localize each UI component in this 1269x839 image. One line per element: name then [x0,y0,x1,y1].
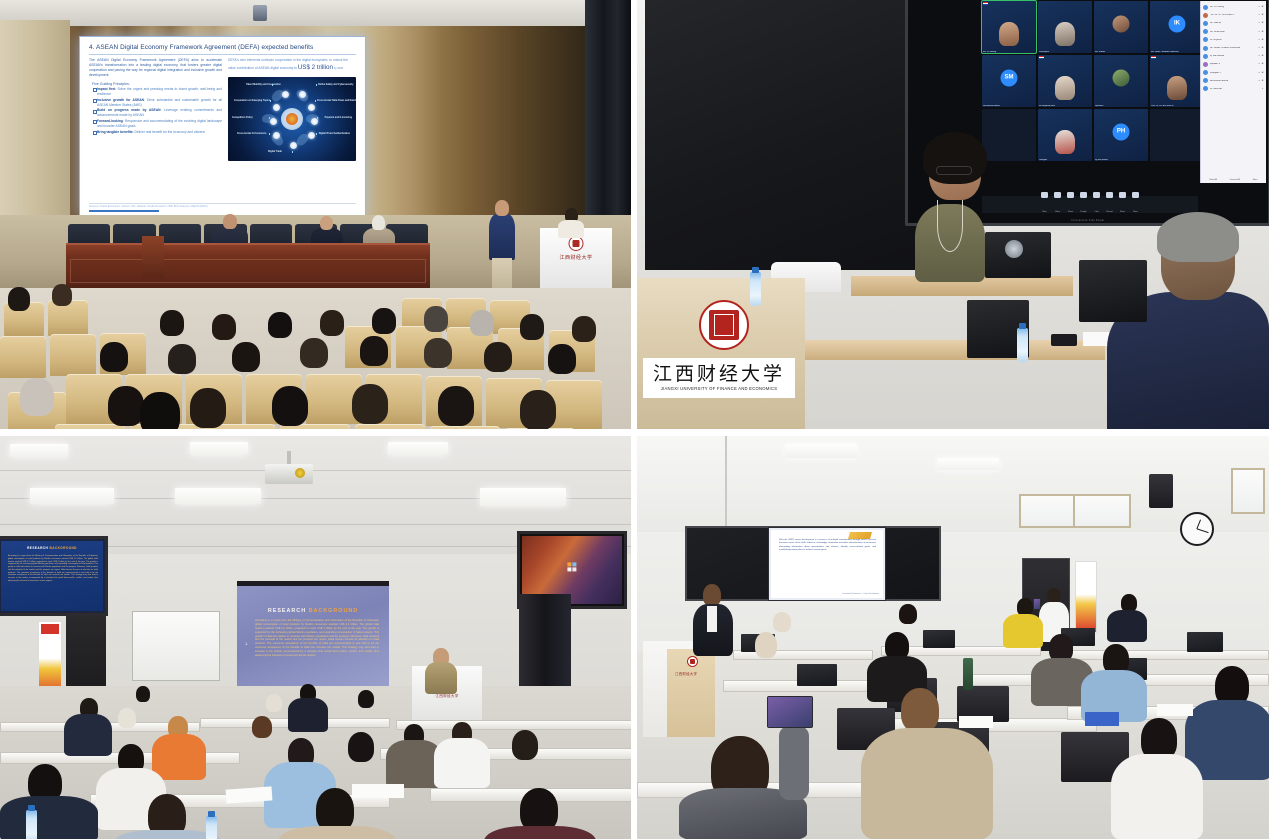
laptop-sticker-icon [1005,240,1023,258]
display-brand-label: Interactive Flat Panel [1071,219,1104,222]
desk-monitor [923,630,955,648]
list-item[interactable]: Secretariat Manila ⏶ ▣ [1203,77,1264,85]
slide-title: RESEARCH BACKGROUND [1,546,103,550]
slide-number: 1. [245,641,248,646]
audience-seating [0,286,631,429]
speaker-body [489,214,515,260]
avatar [1203,37,1208,42]
audience-head [352,384,388,424]
mc-body [558,220,584,238]
attendee-body [861,728,993,839]
presenter-necklace [937,200,963,252]
desk-monitor [797,664,837,686]
audience-head [372,308,396,334]
slide-body: According to a report from the Ministry … [255,619,379,658]
presenter-shirt [707,606,717,632]
slide-accent-bar [89,210,159,212]
audience-head [232,342,260,372]
slide-career-development: (Dessler, 2007) career development is a … [771,530,883,598]
lectern: 江西财经大学 JIANGXI UNIVERSITY OF FINANCE AND… [637,278,805,429]
ceiling-light [10,444,68,457]
list-item[interactable]: Ms. Linda Wati ⏶ ▣ [1203,28,1264,36]
water-bottle [206,816,217,839]
slide-source-line: Sources: Oxford Economics, Gartner, IDC,… [89,203,356,209]
attendee-head [358,690,374,708]
avatar [1203,86,1208,91]
windows-logo-icon [567,563,576,572]
upper-window [1019,494,1131,528]
audience-head [572,316,596,342]
whiteboard [132,611,220,681]
video-tile[interactable]: PH Sy Ma Manuel [1094,109,1148,161]
audience-head [100,342,128,372]
video-tile[interactable]: SM Secretariat Manila [982,55,1036,107]
paper-document [1157,704,1193,716]
unmute-all-button[interactable]: Unmute All [1230,179,1240,181]
pulldown-projection-screen: 1. RESEARCH BACKGROUND According to a re… [237,581,389,686]
attendee-hair [1157,212,1239,262]
diagram-label: Cooperation on Emerging Topics [234,100,268,103]
diagram-label: Online Safety and Cybersecurity [318,84,350,87]
list-item: Forward-looking: Responsive and accommod… [93,119,222,129]
audience-head [168,344,196,374]
attendee-body [64,714,112,756]
audience-head [320,310,344,336]
side-monitor-left: RESEARCH BACKGROUND According to a repor… [0,536,108,616]
slide-principles-heading: Five Guiding Principles: [92,82,222,86]
participant-initials-avatar: PH [1113,123,1130,140]
corner-window [1231,468,1265,514]
participants-button[interactable]: People [1080,192,1088,217]
ceiling-light [480,488,566,506]
attendee-body [1107,610,1147,642]
audience-head [484,342,512,372]
country-flag-icon [1039,56,1044,59]
panelist-head [320,216,333,230]
audience-head [300,338,328,368]
participant-initials-avatar: IK [1169,15,1186,32]
list-item[interactable]: Ms. Vu Hoang ⏶ ▣ [1203,3,1264,11]
audience-head [424,306,448,332]
slide-footer: International Conference — Career Develo… [842,593,879,595]
mute-all-button[interactable]: Mute All [1209,179,1216,181]
list-item[interactable]: Mr. Rahman ⏶ [1203,85,1264,93]
participants-panel-footer: Mute All Unmute All More [1203,179,1264,181]
diagram-label: Cross-border Data Flows and Data Protect… [317,100,353,103]
country-flag-icon [1151,56,1156,59]
avatar [1203,29,1208,34]
presenter-head [703,584,721,606]
university-name-cn: 江西财经大学 [653,365,785,384]
video-button[interactable]: Video [1054,192,1062,217]
list-item[interactable]: Mr. Ariyanto ⏶ ▣ [1203,36,1264,44]
projector-mount [287,451,291,465]
projection-screen: 4. ASEAN Digital Economy Framework Agree… [79,36,366,217]
audience-head [470,310,494,336]
list-item: Impact first: Solve the urgent and press… [93,87,222,97]
audience-head [212,314,236,340]
classroom-desk [396,720,631,730]
mic-camera-icons: ⏶ [1262,88,1264,90]
participant-initials-avatar: SM [1001,69,1018,86]
side-monitor-slide: RESEARCH BACKGROUND According to a repor… [1,541,103,611]
ceiling-projector [265,464,313,484]
avatar [1203,62,1208,67]
avatar [1203,5,1208,10]
video-tile-empty[interactable] [1150,109,1204,161]
video-call-toolbar: Mute Video Share People Chat Record Reac… [982,196,1198,213]
university-seal-icon [569,236,584,251]
video-tile[interactable]: Ms. Vu Hoang [982,1,1036,53]
audience-head [140,392,180,429]
video-tile[interactable]: Participant [1038,1,1092,53]
slide-title: 4. ASEAN Digital Economy Framework Agree… [89,44,356,55]
avatar [1203,13,1208,18]
slide-highlight-shape [848,532,872,539]
audience-head [268,312,292,338]
slide-title: RESEARCH BACKGROUND [237,608,389,614]
water-bottle [26,810,37,839]
mic-camera-icons: ⏶ ▣ [1258,14,1264,16]
list-item: Bring tangible benefits: Deliver real be… [93,130,222,135]
paper-document [959,716,993,728]
university-nameplate: 江西财经大学 JIANGXI UNIVERSITY OF FINANCE AND… [643,358,795,398]
air-vent-icon [253,5,267,21]
attendee-head [118,708,136,728]
attendee-head [136,686,150,702]
attendee-body [484,826,596,839]
deta-elements-diagram: Talent Mobility and Cooperation Online S… [228,77,356,161]
diagram-label: Talent Mobility and Cooperation [246,84,270,87]
audience-head [8,287,30,311]
list-item[interactable]: Prof. Dr. Dr. Idris Raul H. ⏶ ▣ [1203,11,1264,19]
ceiling [637,436,1269,532]
water-bottle [1017,328,1028,362]
photo-panel-bottom-left: RESEARCH BACKGROUND According to a repor… [0,436,631,839]
photo-panel-bottom-right: (Dessler, 2007) career development is a … [637,436,1269,839]
university-name-cn: 江西财经大学 [675,671,697,676]
water-bottle [750,272,761,306]
mute-button[interactable]: Mute [1041,192,1049,217]
diagram-label: Competition Policy [232,117,267,120]
record-button[interactable]: Record [1106,192,1114,217]
presenter-hair [923,132,987,184]
photo-collage: 4. ASEAN Digital Economy Framework Agree… [0,0,1269,839]
more-options-button[interactable]: More [1132,192,1140,217]
mic-camera-icons: ⏶ ▣ [1258,63,1264,65]
audience-head [520,314,544,340]
video-gallery-grid: Ms. Vu Hoang Participant Ms. Fatima IK M… [982,1,1204,161]
university-seal-icon [699,300,749,350]
participants-panel[interactable]: Ms. Vu Hoang ⏶ ▣ Prof. Dr. Dr. Idris Rau… [1200,1,1266,183]
attendee-body [278,826,396,839]
slide-deta-benefits: 4. ASEAN Digital Economy Framework Agree… [83,40,362,213]
audience-head [548,344,576,374]
asean-logo-icon [281,108,303,130]
attendee-body [288,698,328,732]
desk-monitor [1187,632,1223,652]
ceiling-light [190,442,248,455]
list-item[interactable]: Ms. Fatima ⏶ ▣ [1203,19,1264,27]
attendee-head [252,716,272,738]
speaker-head [495,200,509,216]
audience-head [52,284,72,306]
wall-poster [1075,561,1097,633]
attendee-head [773,612,791,632]
attendee-laptop-right [1079,260,1147,322]
audience-head [272,386,308,426]
mic-camera-icons: ⏶ ▣ [1258,80,1264,82]
attendee-head [512,730,538,760]
photo-panel-top-right: Ms. Vu Hoang Participant Ms. Fatima IK M… [637,0,1269,429]
avatar [1203,21,1208,26]
mic-camera-icons: ⏶ ▣ [1258,22,1264,24]
avatar [1203,54,1208,59]
university-seal-icon [687,656,698,667]
stage-podium [142,236,164,278]
list-item[interactable]: Speaker 2 ⏶ ▣ [1203,60,1264,68]
list-item: Inclusive growth for ASEAN: Drive substa… [93,98,222,108]
attendee-head [755,632,777,658]
share-screen-button[interactable]: Share [1067,192,1075,217]
audience-head [20,378,54,416]
slide-intro-paragraph: The ASEAN Digital Economy Framework Agre… [89,58,222,79]
university-name-en: JIANGXI UNIVERSITY OF FINANCE AND ECONOM… [661,386,778,391]
thermos-bottle [963,658,973,690]
slide-principles-list: Impact first: Solve the urgent and press… [93,87,222,135]
mic-camera-icons: ⏶ ▣ [1258,6,1264,8]
presenter-glasses-icon [936,166,972,175]
mic-camera-icons: ⏶ ▣ [1258,47,1264,49]
presentation-display: (Dessler, 2007) career development is a … [768,527,886,601]
avatar [1203,70,1208,75]
list-item: Build on progress made by ASEAN: Leverag… [93,108,222,118]
tablet-device[interactable] [767,696,813,728]
notebook [1085,712,1119,726]
poster-header [41,624,59,634]
university-name-cn: 江西财经大学 [435,694,458,699]
mic-camera-icons: ⏶ ▣ [1258,39,1264,41]
audience-head [520,390,556,429]
video-tile[interactable]: IK Ms. Guilia - ASEAN Indonesia [1150,1,1204,53]
classroom-desk [1057,650,1269,660]
head-table [66,243,430,291]
slide-body: According to a report from the Ministry … [8,555,98,583]
attendee-head [266,694,282,712]
list-item[interactable]: Ms. Guilia - ASEAN Indonesia ⏶ ▣ [1203,44,1264,52]
diagram-label: Digital ID and Authentication [318,133,350,136]
mic-camera-icons: ⏶ ▣ [1258,55,1264,57]
video-tile[interactable]: Mr. Ariyanto Hadi [1038,55,1092,107]
audience-head [438,386,474,426]
smartphone[interactable] [1033,598,1041,610]
attendee-head [348,732,374,762]
ceiling-light [937,458,999,470]
attendee-arm [779,726,809,800]
attendee-head [901,688,939,732]
attendee-body [0,796,98,839]
smartphone [1051,334,1077,346]
attendee-body [1111,754,1203,839]
ceiling-light [30,488,114,504]
diagram-label: Payment and E-invoicing [319,117,352,120]
audience-head [360,336,388,366]
video-tile[interactable]: Delegate [1038,109,1092,161]
diagram-label: Cross-border E-Commerce [237,133,267,136]
country-flag-icon [983,2,988,5]
slide-text: (Dessler, 2007) career development is a … [779,539,876,552]
video-tile[interactable]: Ms. Fatima [1094,1,1148,53]
audience-head [424,338,452,368]
video-tile[interactable]: Prof. Dr. Dr. Idris Raul H. [1150,55,1204,107]
attendee-head [899,604,917,624]
audience-head [108,386,144,426]
paper-document [352,784,404,798]
panelist-head [223,214,237,229]
attendee-body [1003,614,1043,648]
attendee-body [152,734,206,780]
ceiling-mic-cable [725,436,727,536]
ceiling-light [785,444,857,458]
list-item[interactable]: Sy Ma Manuel ⏶ ▣ [1203,52,1264,60]
avatar [1203,46,1208,51]
audience-head [160,310,184,336]
attendee-body [434,738,490,788]
presenter-body [425,662,457,694]
mic-camera-icons: ⏶ ▣ [1258,72,1264,74]
ceiling-light [175,488,261,504]
mic-camera-icons: ⏶ ▣ [1258,31,1264,33]
diagram-label: Digital Trade [268,151,290,154]
ceiling-strip [0,0,631,26]
ceiling-speaker-icon [1149,474,1173,508]
video-tile[interactable]: Speaker 2 [1094,55,1148,107]
ceiling-light [388,442,448,455]
reactions-button[interactable]: React [1119,192,1127,217]
chat-button[interactable]: Chat [1093,192,1101,217]
photo-panel-top-left: 4. ASEAN Digital Economy Framework Agree… [0,0,631,429]
wall-clock-icon [1180,512,1214,546]
more-button[interactable]: More [1253,179,1258,181]
university-name-cn: 江西财经大学 [559,254,592,261]
avatar [1203,78,1208,83]
list-item[interactable]: Delegate 1 ⏶ ▣ [1203,69,1264,77]
panelist-head [372,215,385,230]
audience-head [190,388,226,428]
video-tile-empty[interactable] [982,109,1036,161]
slide-right-text: DEFA's nine elements underpin cooperatio… [228,58,356,74]
